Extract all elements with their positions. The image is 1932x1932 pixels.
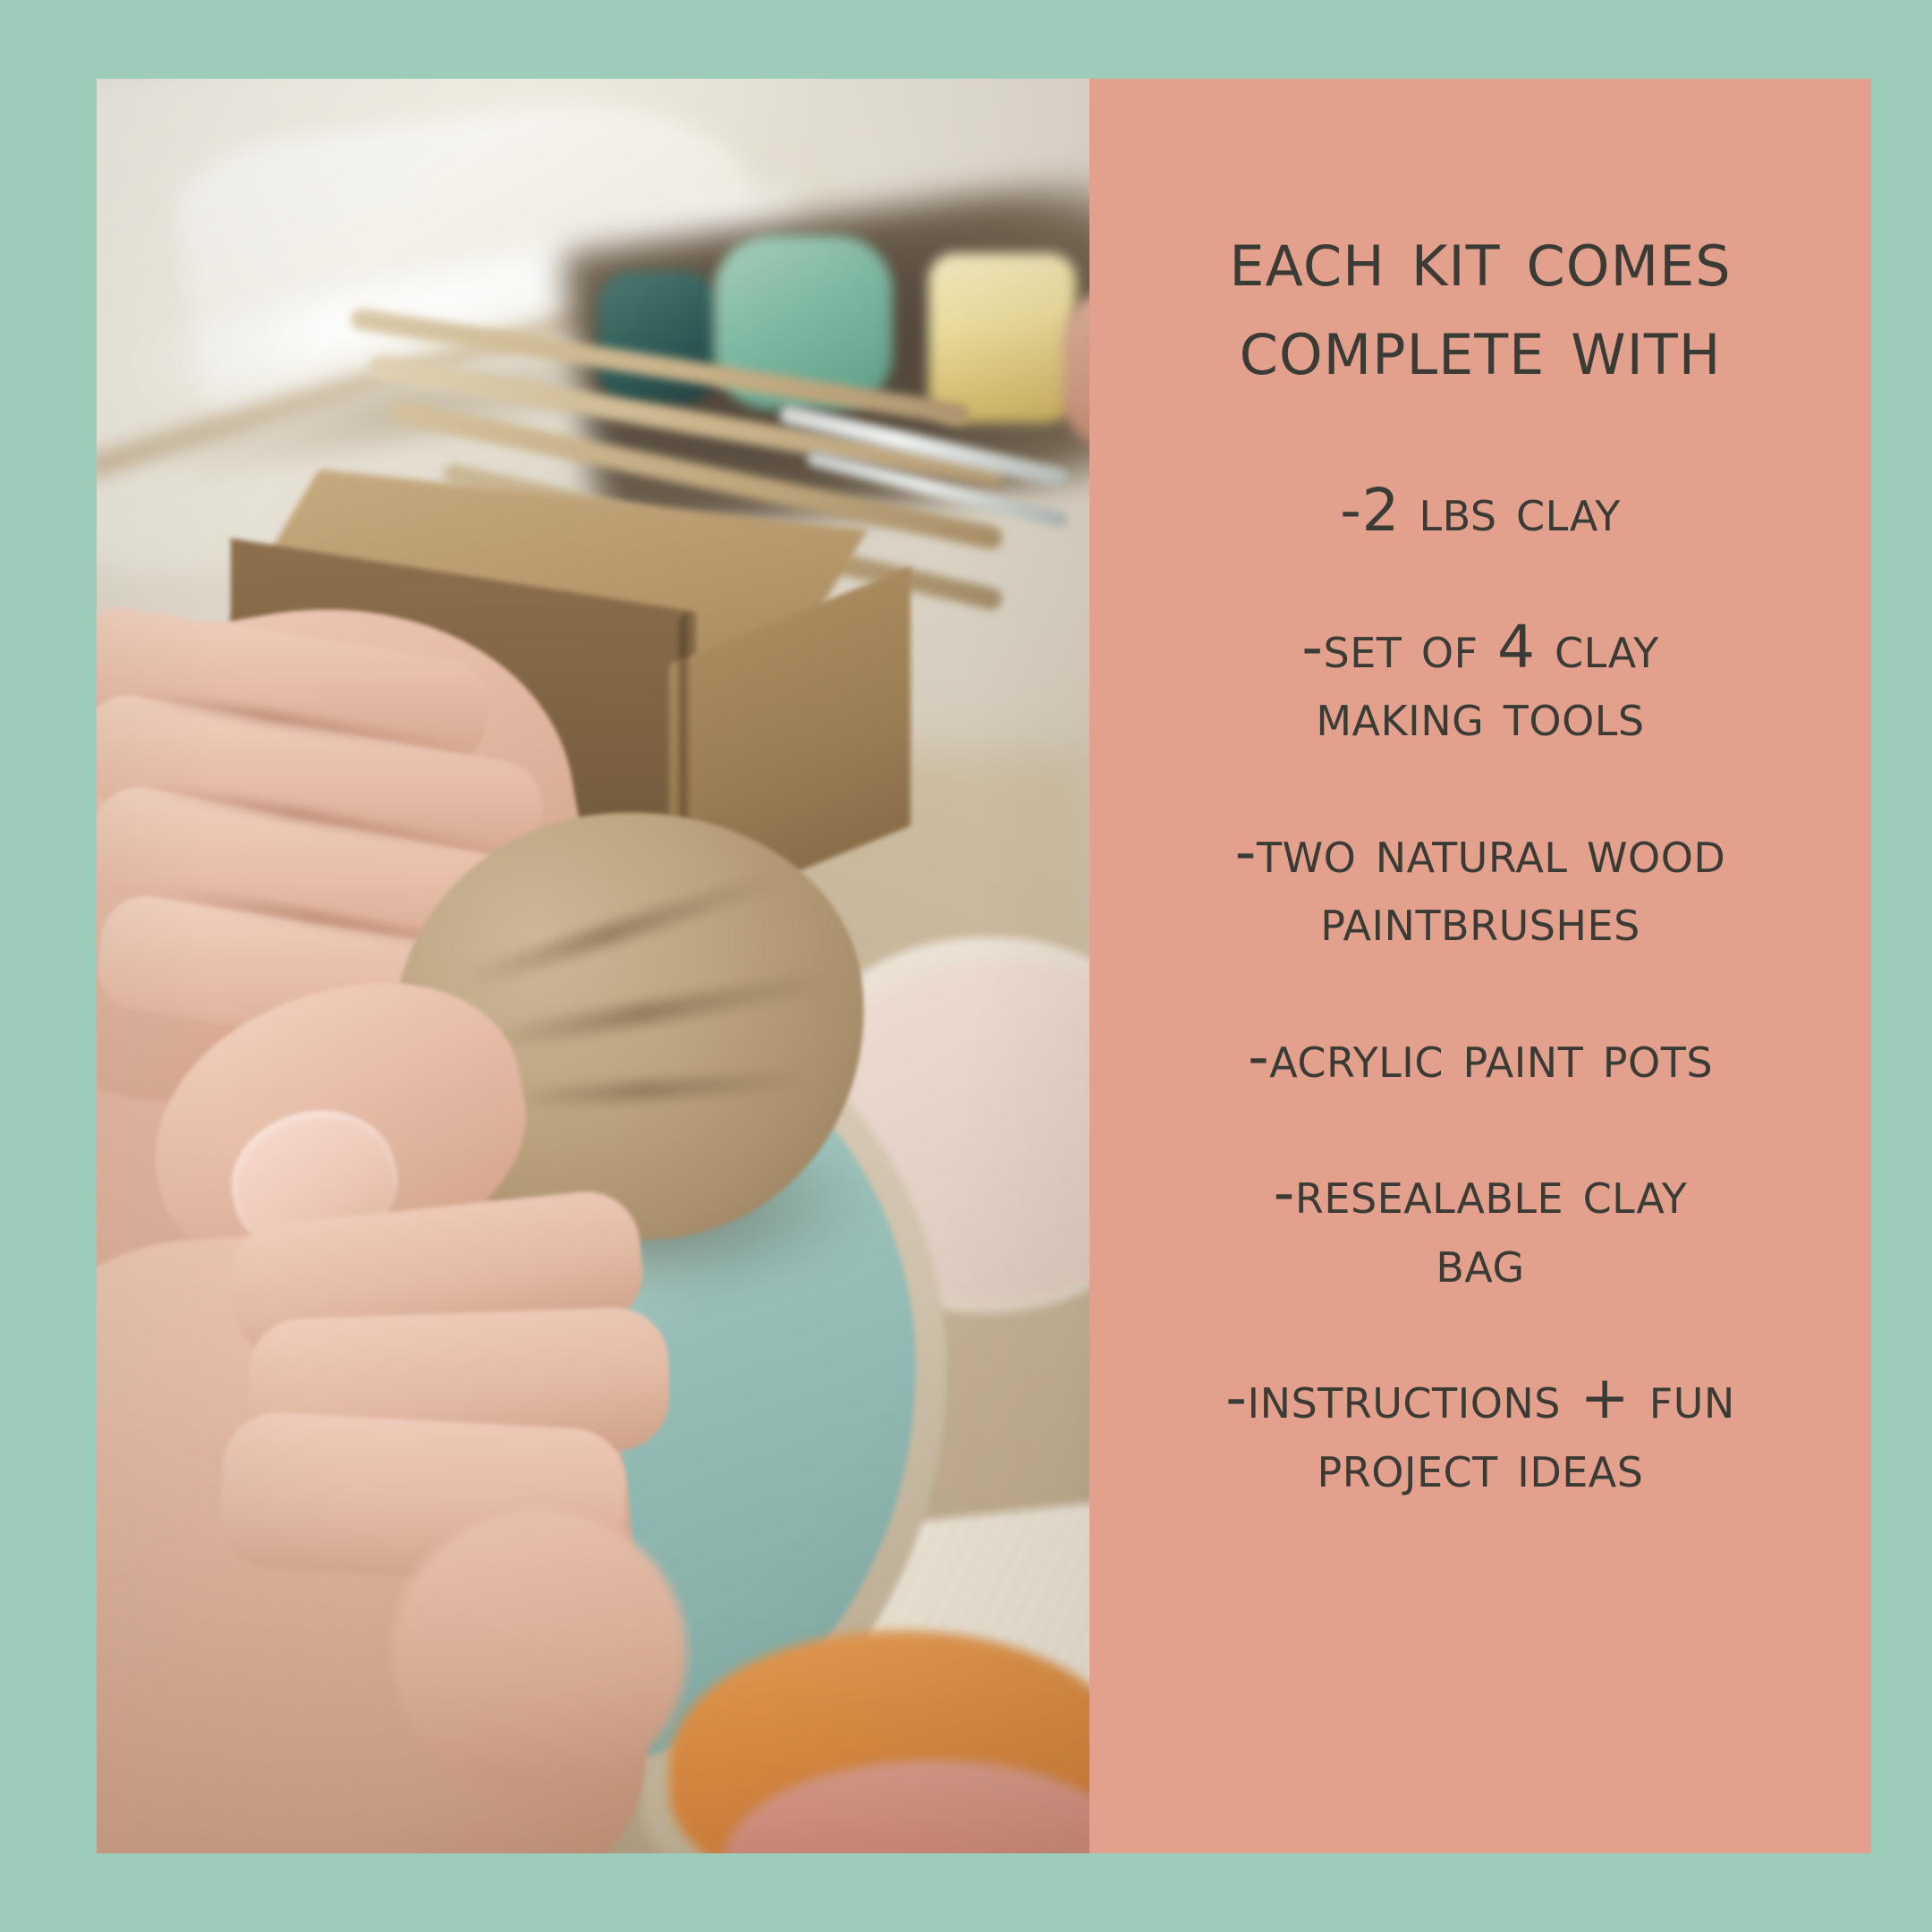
content-block: MC [97,79,1871,1853]
list-item: -Set Of 4 Clay Making Tools [1143,614,1818,750]
paint-pot-cream [928,253,1076,423]
poster-canvas: MC [0,0,1932,1932]
page-title: Each Kit Comes Complete With [1188,79,1772,391]
list-item: -Resealable Clay Bag [1143,1159,1818,1296]
list-item: -2 LBS Clay [1143,477,1818,546]
list-item: -Two Natural Wood Paintbrushes [1143,818,1818,955]
kit-contents-panel: Each Kit Comes Complete With -2 LBS Clay… [1089,79,1871,1853]
paint-pot-teal [597,271,718,405]
list-item: -Acrylic Paint Pots [1143,1023,1818,1092]
product-photo: MC [97,79,1089,1853]
knuckle [392,1510,687,1796]
list-item: -Instructions + Fun Project Ideas [1143,1364,1818,1501]
kit-contents-list: -2 LBS Clay -Set Of 4 Clay Making Tools … [1089,391,1871,1501]
